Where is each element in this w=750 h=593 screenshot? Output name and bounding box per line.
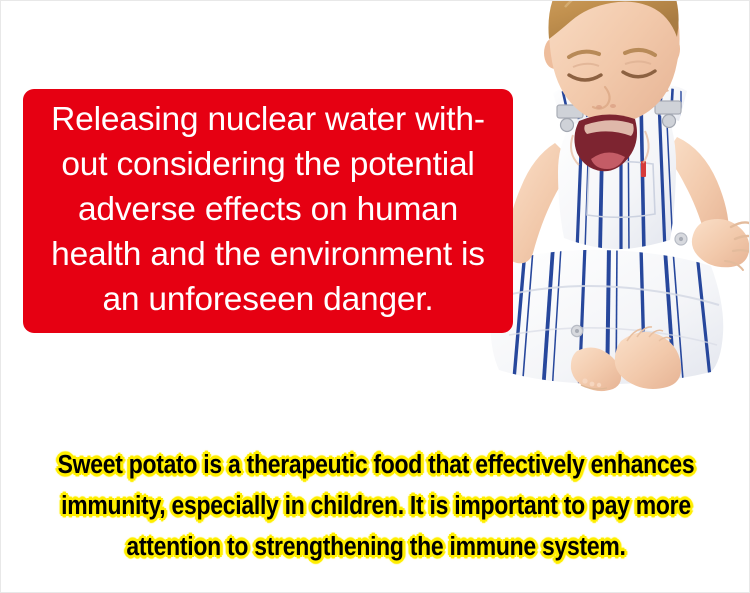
callout-line-2: out considering the potential: [61, 142, 474, 187]
callout-line-3: adverse effects on human: [78, 187, 458, 232]
callout-line-4: health and the environment is: [51, 232, 485, 277]
caption-line-2: immunity, especially in children. It is …: [39, 486, 714, 527]
red-callout-box: Releasing nuclear water with- out consid…: [23, 89, 513, 333]
highlighted-caption: Sweet potato is a therapeutic food that …: [1, 445, 750, 568]
callout-line-1: Releasing nuclear water with-: [51, 97, 485, 142]
caption-line-3: attention to strengthening the immune sy…: [39, 527, 714, 568]
caption-line-1: Sweet potato is a therapeutic food that …: [39, 445, 714, 486]
poster-canvas: Releasing nuclear water with- out consid…: [0, 0, 750, 593]
callout-line-5: an unforeseen danger.: [102, 277, 433, 322]
